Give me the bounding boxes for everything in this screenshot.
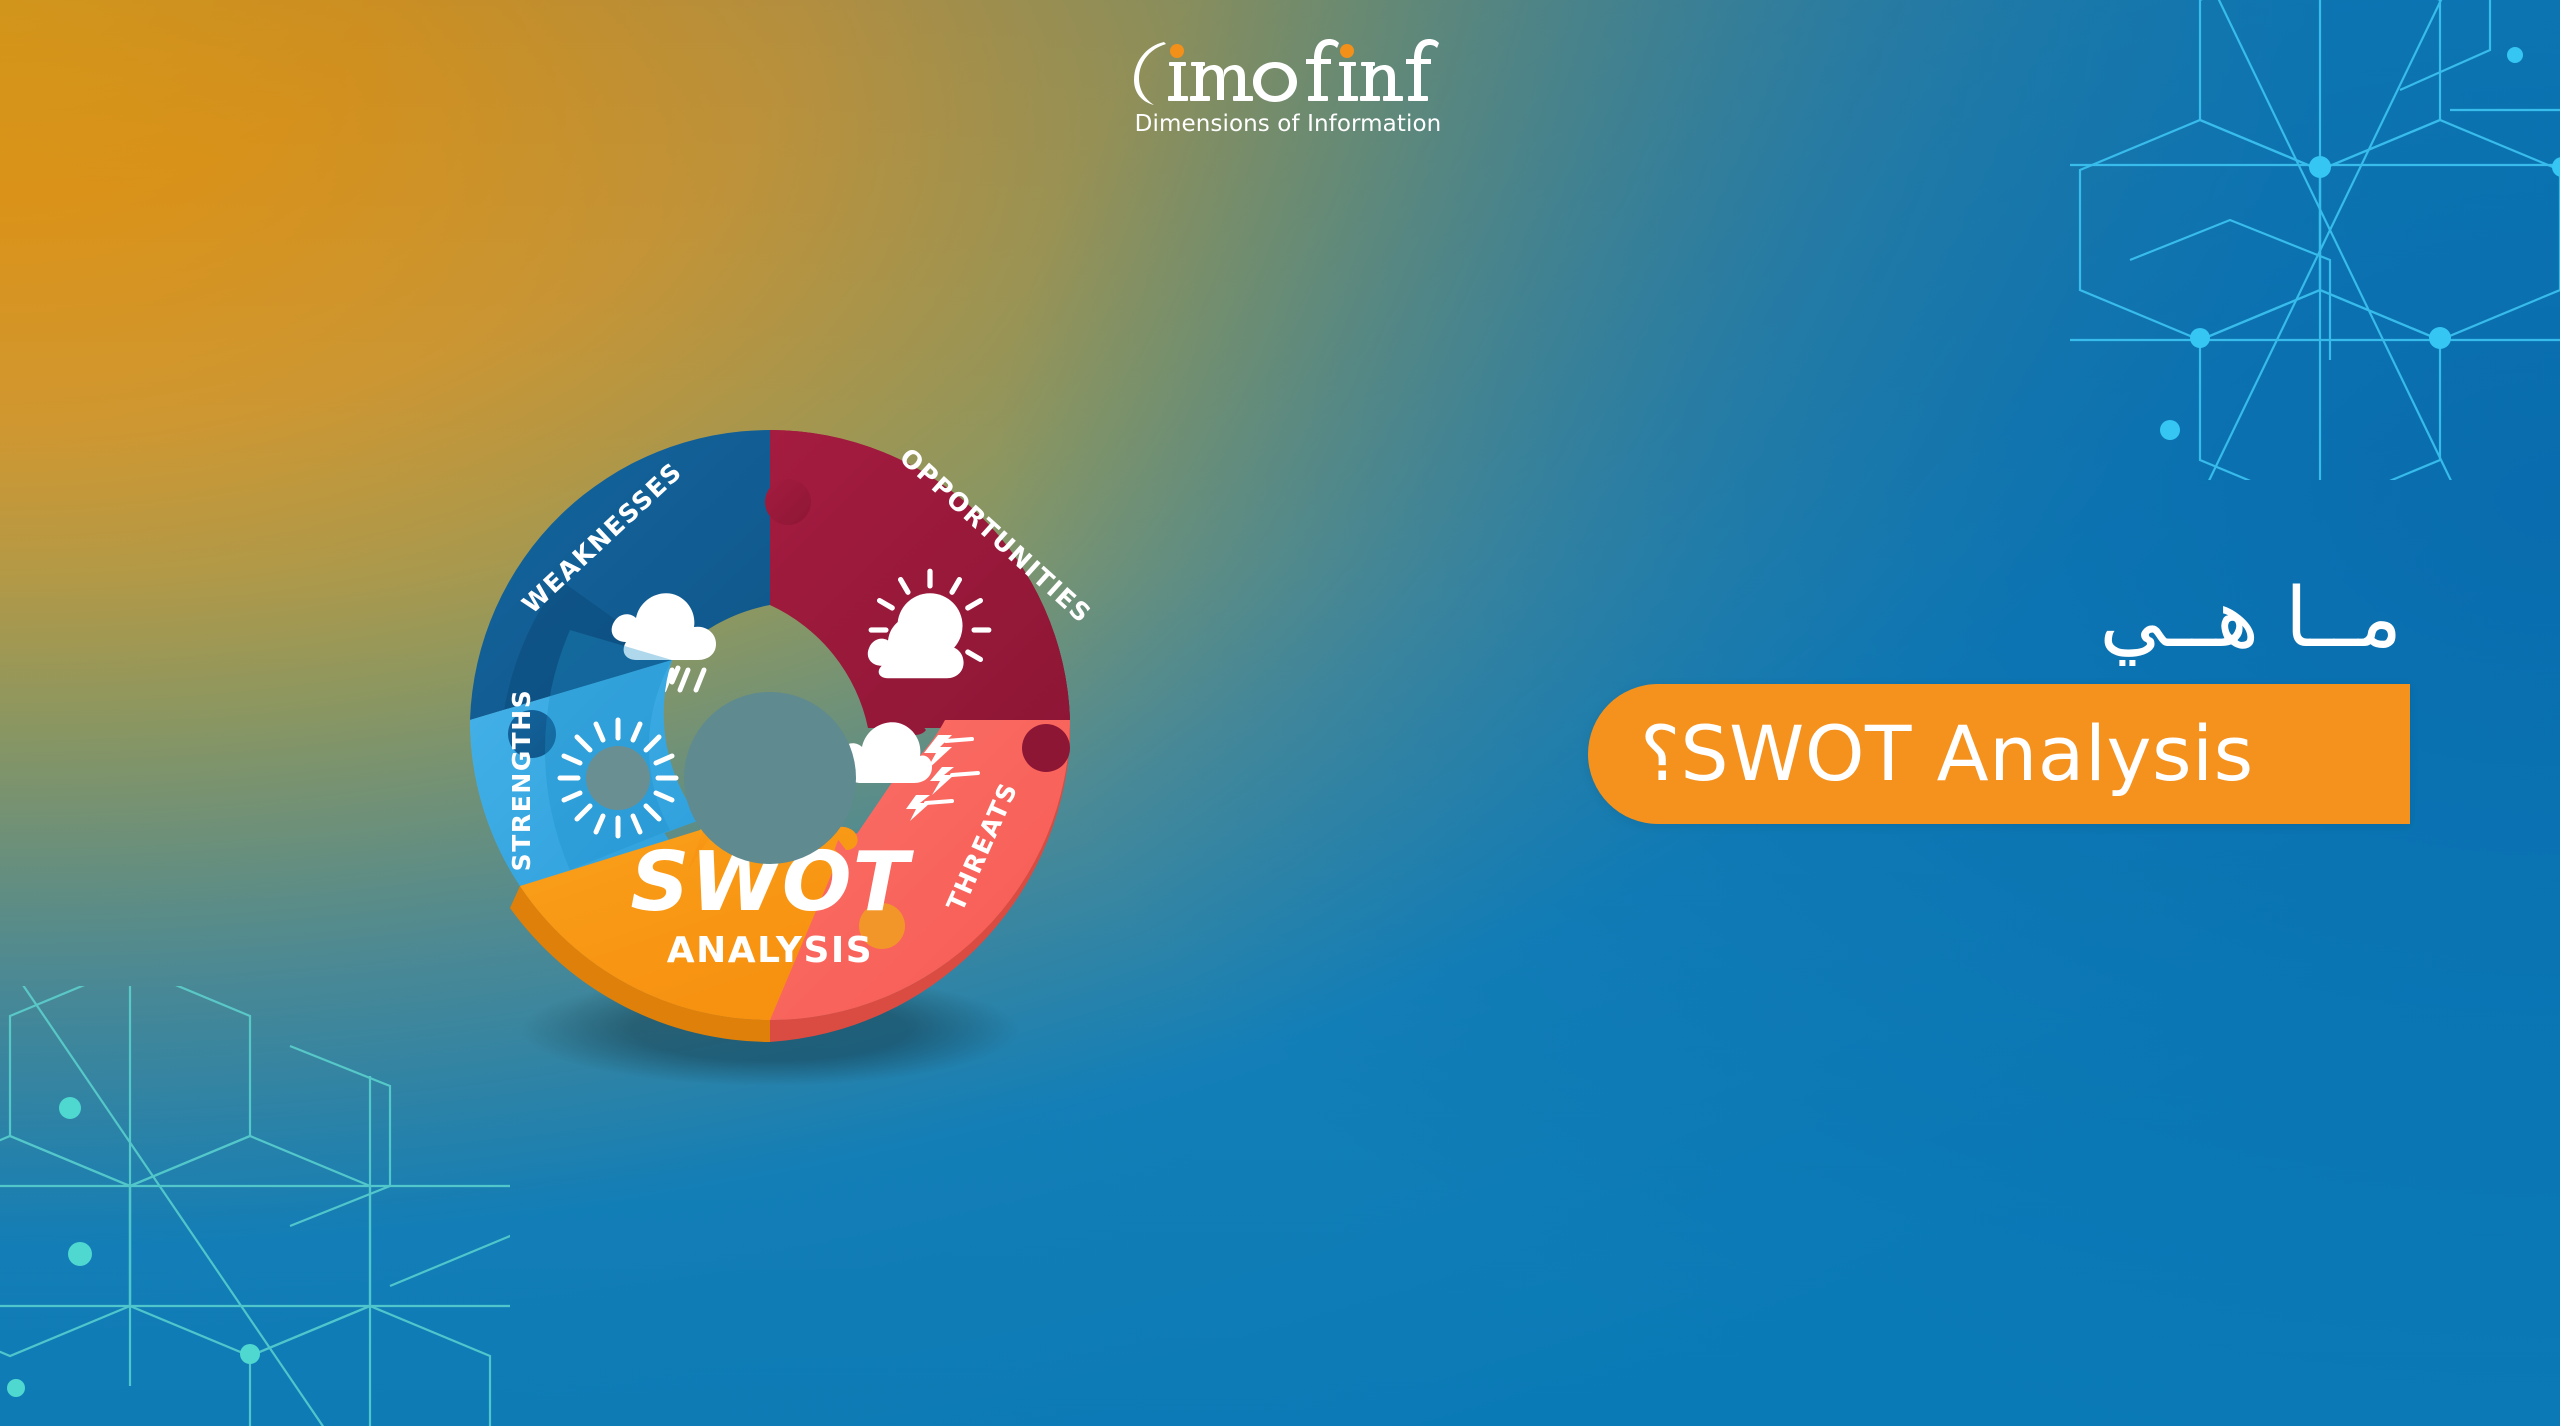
hex-network-top-right-icon [2070,0,2560,480]
slide-canvas: Dimensions of Information [0,0,2560,1426]
headline-block: مــا هــي SWOT Analysis؟ [1470,575,2410,824]
swot-wheel-chart: OPPORTUNITIES [370,330,1150,1110]
logo-wordmark [1118,36,1458,110]
sun-icon [560,720,676,836]
headline-pill-text: SWOT Analysis؟ [1640,709,2254,798]
chart-center-subtitle: ANALYSIS [667,930,874,971]
swot-wheel-svg: OPPORTUNITIES [370,330,1150,1110]
brand-logo[interactable]: Dimensions of Information [1118,36,1458,137]
segment-label-strengths: STRENGTHS [507,689,536,872]
logo-tagline: Dimensions of Information [1118,111,1458,137]
logo-orange-dots-icon [1170,44,1354,58]
headline-pill[interactable]: SWOT Analysis؟ [1588,684,2410,824]
wheel-center-hole [684,692,856,864]
headline-arabic: مــا هــي [1470,575,2410,664]
dimofinf-wordmark-icon [1118,36,1458,110]
